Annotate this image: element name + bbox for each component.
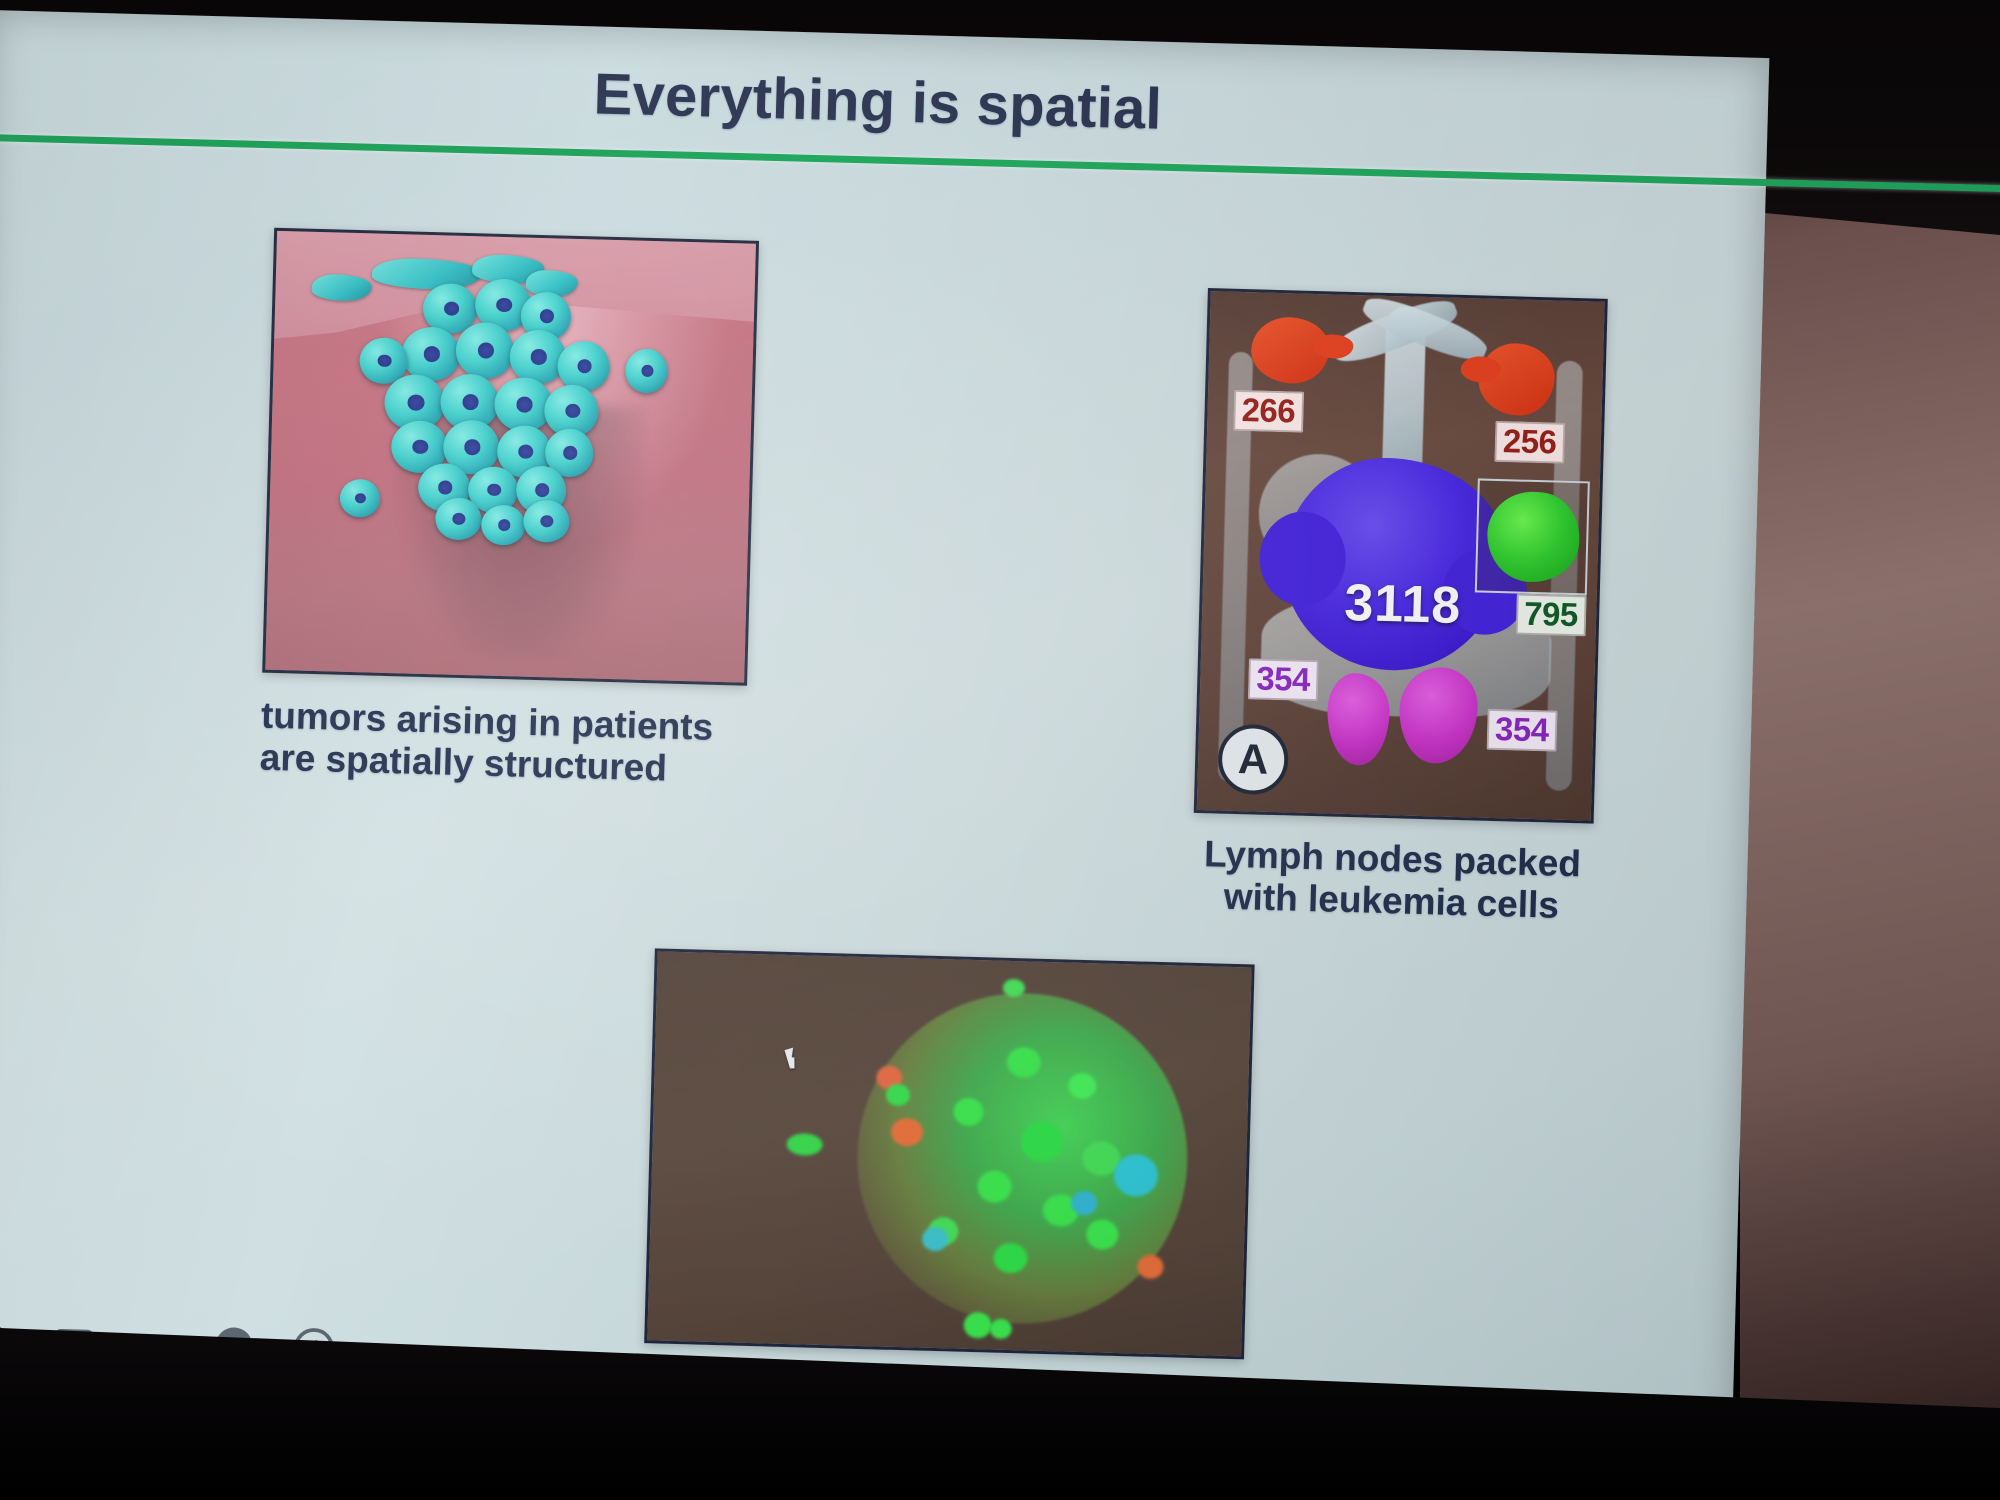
screenshot-root: Everything is spatial — [0, 0, 2000, 1500]
scan-label-3118: 3118 — [1344, 573, 1462, 636]
organoid-cell-detached — [989, 1319, 1012, 1340]
scan-label-795: 795 — [1516, 594, 1587, 637]
scan-label-354-right: 354 — [1487, 709, 1558, 752]
tumor-cell — [455, 322, 514, 380]
figure-lymph-caption: Lymph nodes packed with leukemia cells — [1191, 833, 1593, 928]
figure-organoid: patient-derived tumor organoid — [643, 948, 1275, 1416]
organoid-image — [644, 948, 1254, 1359]
projected-slide: Everything is spatial — [0, 10, 1769, 1453]
lymph-scan-image: 266 256 3118 795 354 354 A — [1194, 288, 1608, 824]
tumor-render-image — [262, 228, 759, 686]
panel-letter-a: A — [1217, 724, 1289, 796]
scan-label-266: 266 — [1233, 390, 1304, 433]
lymph-node-purple-right — [1398, 666, 1479, 764]
tumor-cell-outlier — [625, 348, 668, 393]
tumor-cell — [509, 329, 566, 384]
mouse-cursor — [785, 1045, 808, 1069]
lymph-node-purple-left — [1326, 672, 1390, 766]
scan-label-354-left: 354 — [1248, 658, 1319, 701]
figure-tumor-caption: tumors arising in patients are spatially… — [259, 695, 761, 793]
organoid-cell-detached — [963, 1312, 992, 1339]
tumor-cell-outlier — [339, 479, 380, 518]
tumor-cell — [557, 340, 610, 391]
figure-tumor-render: tumors arising in patients are spatially… — [259, 228, 774, 793]
organoid-cell-orange — [1137, 1255, 1164, 1280]
organoid-cell-detached — [786, 1133, 823, 1156]
lymph-node-green — [1486, 491, 1580, 583]
tumor-cell — [401, 326, 460, 382]
scan-label-256: 256 — [1494, 421, 1565, 464]
figure-lymph-scan: 266 256 3118 795 354 354 A Lymph nodes p… — [1191, 288, 1628, 928]
tumor-flake — [311, 274, 372, 302]
